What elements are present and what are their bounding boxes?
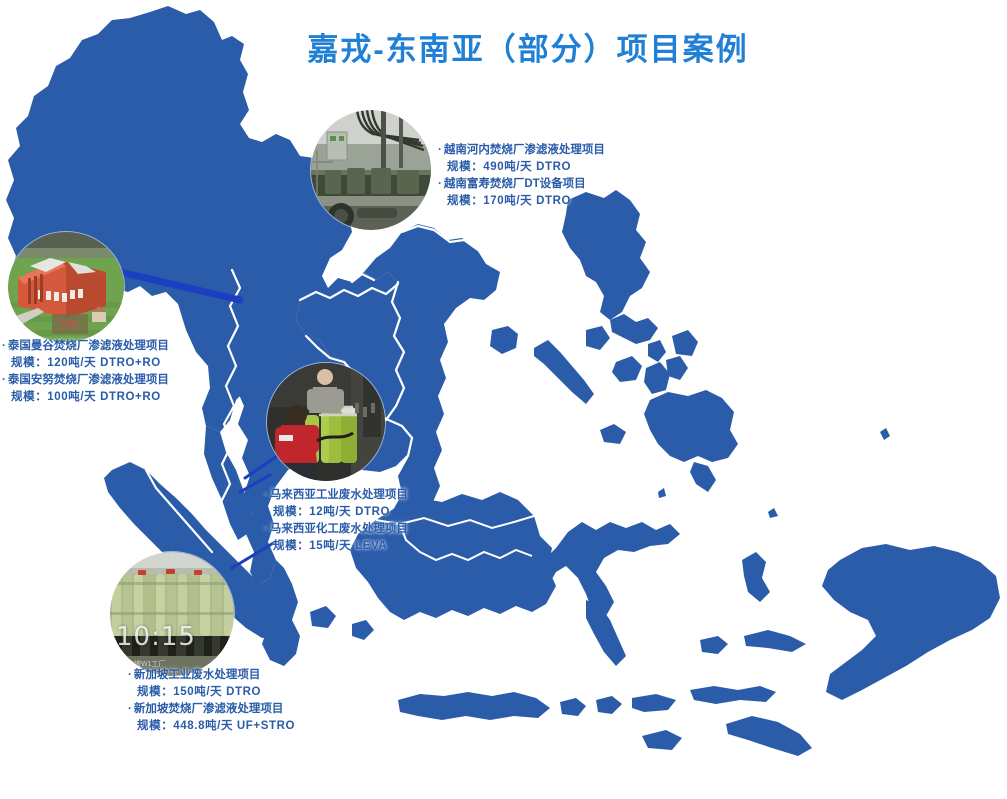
singapore-photo-content (110, 552, 234, 676)
island-belitung (352, 620, 374, 640)
bullet-icon: · (438, 144, 442, 156)
project-spec: 规模：100吨/天 DTRO+RO (2, 389, 169, 406)
bullet-icon: · (128, 703, 132, 715)
island-leyte (666, 356, 688, 380)
list-item: ·马来西亚化工废水处理项目 规模：15吨/天 LEVA (264, 521, 408, 555)
malaysia-label-block: ·马来西亚工业废水处理项目 规模：12吨/天 DTRO ·马来西亚化工废水处理项… (264, 487, 408, 555)
island-buru (700, 636, 728, 654)
thailand-project-photo[interactable] (8, 232, 124, 342)
island-speck-3 (658, 488, 666, 498)
slide-canvas: 嘉戎-东南亚（部分）项目案例 (0, 0, 1007, 799)
bullet-icon: · (438, 178, 442, 190)
island-seram (744, 630, 806, 652)
list-item: ·越南河内焚烧厂渗滤液处理项目 规模：490吨/天 DTRO (438, 142, 605, 176)
page-title: 嘉戎-东南亚（部分）项目案例 (268, 24, 788, 69)
bullet-icon: · (264, 523, 268, 535)
island-halmahera (742, 552, 770, 602)
island-speck-1 (880, 428, 890, 440)
vietnam-label-block: ·越南河内焚烧厂渗滤液处理项目 规模：490吨/天 DTRO ·越南富寿焚烧厂D… (438, 142, 605, 210)
project-name: 泰国曼谷焚烧厂渗滤液处理项目 (8, 340, 169, 352)
island-flores (690, 686, 776, 704)
project-name: 新加坡工业废水处理项目 (134, 669, 261, 681)
photo-timestamp: 10:15 (116, 622, 196, 652)
project-name: 马来西亚工业废水处理项目 (270, 489, 408, 501)
island-bali (560, 698, 586, 716)
project-spec: 规模：490吨/天 DTRO (438, 159, 605, 176)
island-timor (726, 716, 812, 756)
bullet-icon: · (128, 669, 132, 681)
list-item: ·新加坡焚烧厂渗滤液处理项目 规模：448.8吨/天 UF+STRO (128, 701, 295, 735)
island-mindanao-tail (690, 462, 716, 492)
project-name: 马来西亚化工废水处理项目 (270, 523, 408, 535)
project-name: 泰国安努焚烧厂渗滤液处理项目 (8, 374, 169, 386)
island-luzon-south (610, 314, 658, 344)
island-bangka (310, 606, 336, 628)
list-item: ·越南富寿焚烧厂DT设备项目 规模：170吨/天 DTRO (438, 176, 605, 210)
singapore-project-photo[interactable]: 10:15 新加坡W1工厂 (110, 552, 234, 676)
island-speck-2 (768, 508, 778, 518)
island-cebu (648, 340, 666, 362)
island-sumbawa (632, 694, 676, 712)
list-item: ·泰国安努焚烧厂渗滤液处理项目 规模：100吨/天 DTRO+RO (2, 372, 169, 406)
bullet-icon: · (2, 374, 6, 386)
list-item: ·泰国曼谷焚烧厂渗滤液处理项目 规模：120吨/天 DTRO+RO (2, 338, 169, 372)
island-samar (672, 330, 698, 356)
project-spec: 规模：120吨/天 DTRO+RO (2, 355, 169, 372)
island-sulu (600, 424, 626, 444)
thailand-label-block: ·泰国曼谷焚烧厂渗滤液处理项目 规模：120吨/天 DTRO+RO ·泰国安努焚… (2, 338, 169, 406)
vietnam-project-photo[interactable] (311, 110, 431, 230)
list-item: ·马来西亚工业废水处理项目 规模：12吨/天 DTRO (264, 487, 408, 521)
island-negros (644, 362, 670, 394)
malaysia-project-photo[interactable] (267, 363, 385, 481)
bullet-icon: · (2, 340, 6, 352)
project-spec: 规模：15吨/天 LEVA (264, 538, 408, 555)
project-name: 越南河内焚烧厂渗滤液处理项目 (444, 144, 605, 156)
island-new-guinea (822, 544, 1000, 700)
island-lombok (596, 696, 622, 714)
island-sumba (642, 730, 682, 750)
island-java (398, 692, 550, 720)
island-hainan (490, 326, 518, 354)
bullet-icon: · (264, 489, 268, 501)
project-name: 新加坡焚烧厂渗滤液处理项目 (134, 703, 284, 715)
island-sulawesi (528, 522, 680, 616)
island-panay (612, 356, 642, 382)
thailand-photo-content (8, 232, 124, 342)
project-spec: 规模：448.8吨/天 UF+STRO (128, 718, 295, 735)
singapore-label-block: ·新加坡工业废水处理项目 规模：150吨/天 DTRO ·新加坡焚烧厂渗滤液处理… (128, 667, 295, 735)
project-spec: 规模：150吨/天 DTRO (128, 684, 295, 701)
island-mindanao (644, 390, 738, 462)
malaysia-photo-content (267, 363, 385, 481)
island-mindoro (586, 326, 610, 350)
project-spec: 规模：170吨/天 DTRO (438, 193, 605, 210)
vietnam-photo-content (311, 110, 431, 230)
project-spec: 规模：12吨/天 DTRO (264, 504, 408, 521)
project-name: 越南富寿焚烧厂DT设备项目 (444, 178, 586, 190)
list-item: ·新加坡工业废水处理项目 规模：150吨/天 DTRO (128, 667, 295, 701)
island-palawan (534, 340, 594, 404)
